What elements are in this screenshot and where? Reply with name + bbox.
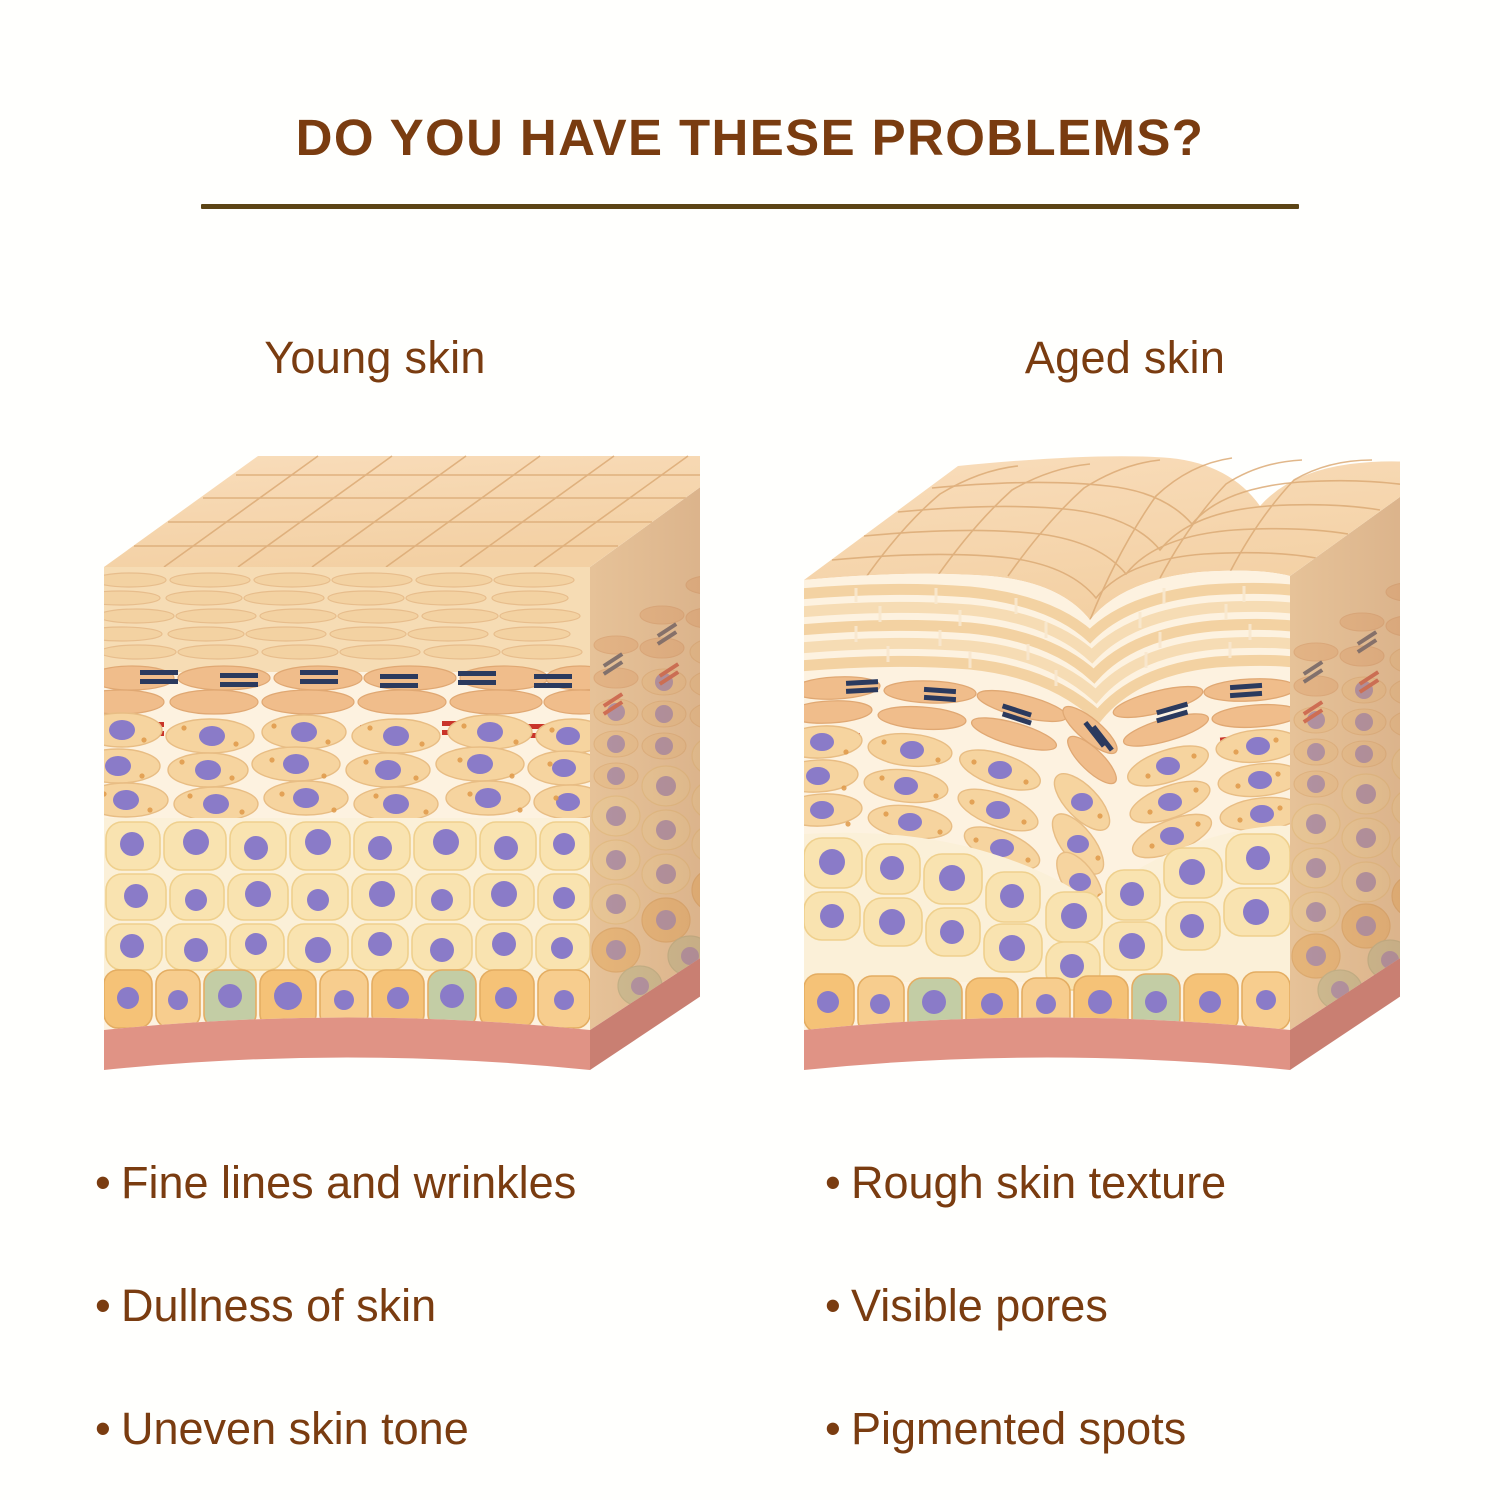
list-item: • Fine lines and wrinkles — [95, 1160, 795, 1205]
dermis-band — [104, 1018, 590, 1071]
column-heading-young: Young skin — [0, 332, 750, 384]
aged-skin-cross-section — [760, 430, 1400, 1090]
bullet-dot-icon: • — [95, 1283, 121, 1328]
keratinocyte-layer — [104, 818, 590, 978]
problem-list-young: • Fine lines and wrinkles • Dullness of … — [95, 1160, 795, 1451]
bullet-dot-icon: • — [95, 1160, 121, 1205]
list-item-label: Pigmented spots — [851, 1406, 1485, 1451]
title-underline-rule — [201, 204, 1299, 209]
list-item: • Visible pores — [825, 1283, 1485, 1328]
stratum-corneum-layer — [80, 567, 590, 672]
young-skin-top-surface — [104, 456, 700, 567]
young-skin-cross-section — [60, 430, 700, 1090]
column-heading-aged: Aged skin — [750, 332, 1500, 384]
list-item: • Rough skin texture — [825, 1160, 1485, 1205]
list-item: • Pigmented spots — [825, 1406, 1485, 1451]
bullet-dot-icon: • — [825, 1160, 851, 1205]
problem-list-aged: • Rough skin texture • Visible pores • P… — [825, 1160, 1485, 1451]
poster-root: DO YOU HAVE THESE PROBLEMS? Young skin A… — [0, 0, 1500, 1500]
list-item: • Uneven skin tone — [95, 1406, 795, 1451]
page-title: DO YOU HAVE THESE PROBLEMS? — [0, 112, 1500, 163]
list-item-label: Uneven skin tone — [121, 1406, 795, 1451]
list-item-label: Dullness of skin — [121, 1283, 795, 1328]
aged-skin-front-face — [777, 560, 1306, 1040]
diagram-area — [0, 430, 1500, 1110]
bullet-dot-icon: • — [825, 1406, 851, 1451]
header: DO YOU HAVE THESE PROBLEMS? — [0, 0, 1500, 209]
bullet-dot-icon: • — [825, 1283, 851, 1328]
young-skin-front-face — [76, 567, 616, 1037]
list-item: • Dullness of skin — [95, 1283, 795, 1328]
dermis-band — [804, 1018, 1290, 1071]
list-item-label: Rough skin texture — [851, 1160, 1485, 1205]
bullet-dot-icon: • — [95, 1406, 121, 1451]
list-item-label: Fine lines and wrinkles — [121, 1160, 795, 1205]
list-item-label: Visible pores — [851, 1283, 1485, 1328]
